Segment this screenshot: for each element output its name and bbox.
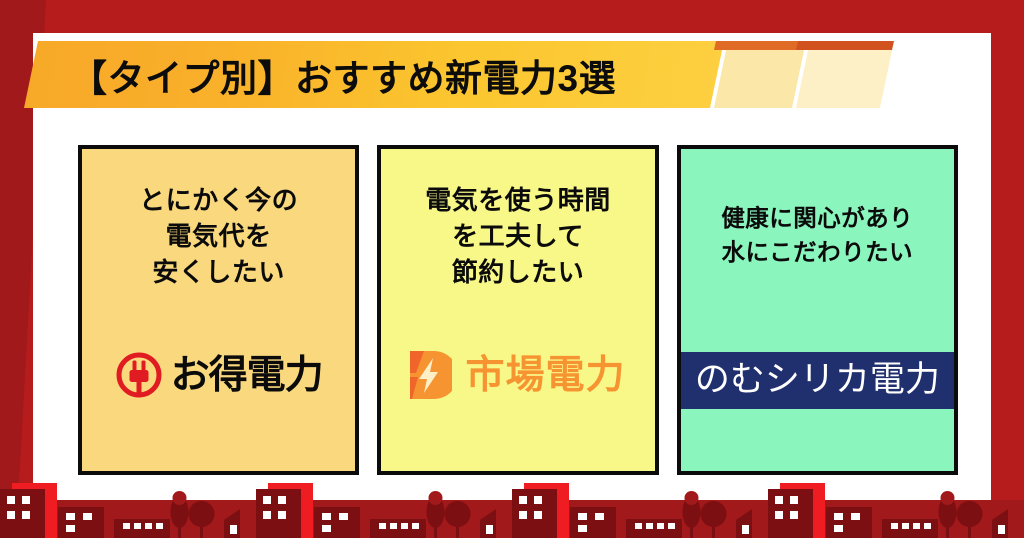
card-headline: とにかく今の 電気代を 安くしたい [139,183,298,291]
banner-segment-cream-2 [796,41,894,108]
cityscape-silhouette-border [0,480,1024,538]
brand-plate: のむシリカ電力 [681,352,954,409]
banner-accent-stripe-1 [714,41,806,50]
recommendation-card-row: とにかく今の 電気代を 安くしたい お得電力 電気を使う時間 を工夫して 節約し… [78,145,958,475]
card-nomu-silica-denryoku[interactable]: 健康に関心があり 水にこだわりたい のむシリカ電力 [677,145,958,475]
lightning-bolt-icon [410,351,452,399]
card-brand-name: のむシリカ電力 [695,362,940,397]
banner-segment-cream-1 [714,41,806,108]
title-banner: 【タイプ別】おすすめ新電力3選 [24,41,894,108]
card-shijo-denryoku[interactable]: 電気を使う時間 を工夫して 節約したい 市場電力 [377,145,658,475]
card-brand-lockup: のむシリカ電力 [681,352,954,409]
card-otoku-denryoku[interactable]: とにかく今の 電気代を 安くしたい お得電力 [78,145,359,475]
infographic-canvas: 【タイプ別】おすすめ新電力3選 とにかく今の 電気代を 安くしたい お得電力 [0,0,1024,538]
plug-in-circle-icon [115,351,163,399]
page-title: 【タイプ別】おすすめ新電力3選 [70,41,616,108]
card-headline: 電気を使う時間 を工夫して 節約したい [425,183,611,291]
card-brand-name: 市場電力 [465,356,625,395]
card-brand-name: お得電力 [171,356,323,395]
card-headline: 健康に関心があり 水にこだわりたい [721,201,913,269]
banner-accent-stripe-2 [796,41,894,50]
card-brand-lockup: 市場電力 [410,351,625,399]
card-brand-lockup: お得電力 [115,351,323,399]
